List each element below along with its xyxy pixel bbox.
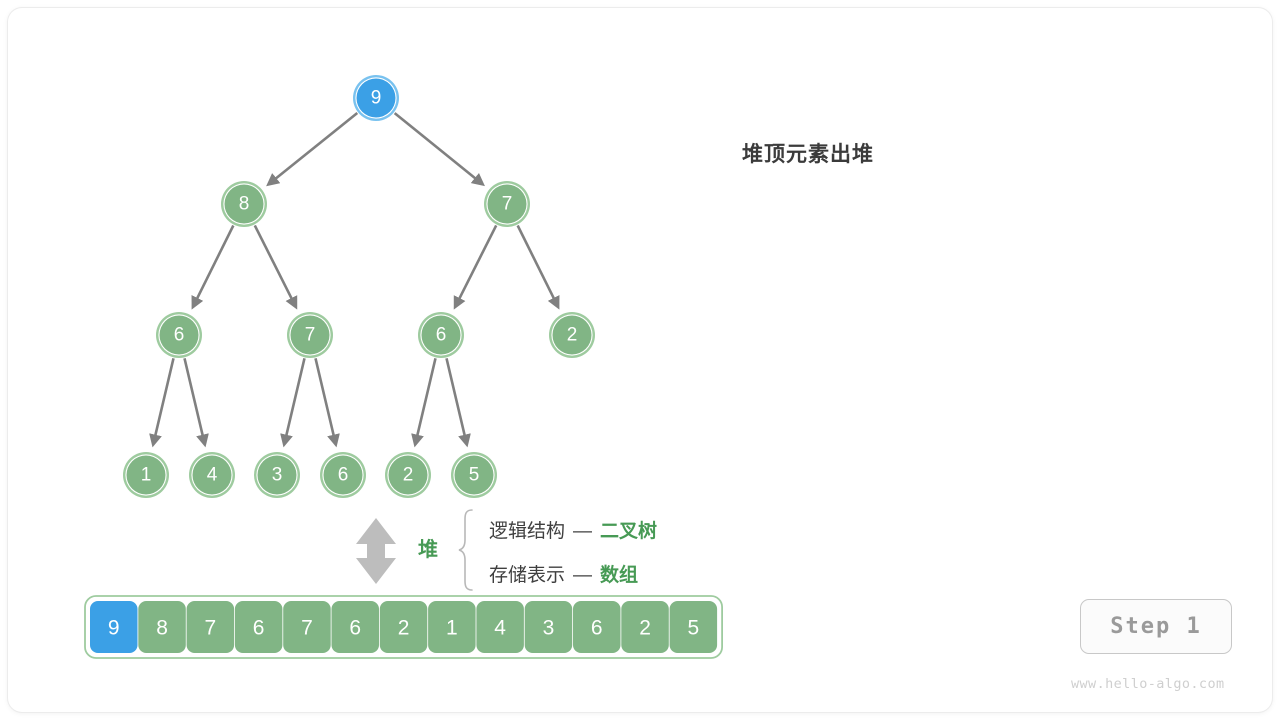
diagram-canvas: 9876762143625 9876762143625 堆顶元素出堆 堆 逻辑结… bbox=[0, 0, 1280, 720]
tree-node-value: 3 bbox=[272, 465, 283, 486]
array-cell-value: 6 bbox=[253, 617, 265, 640]
legend-label-storage: 存储表示 bbox=[489, 565, 565, 586]
tree-edge bbox=[518, 225, 558, 306]
array-cell[interactable]: 4 bbox=[476, 601, 524, 653]
tree-edge bbox=[255, 225, 296, 306]
tree-node[interactable]: 6 bbox=[156, 312, 202, 358]
tree-node-value: 6 bbox=[174, 325, 185, 346]
tree-node[interactable]: 7 bbox=[287, 312, 333, 358]
array-cell[interactable]: 6 bbox=[332, 601, 380, 653]
legend-dash-logical: — bbox=[573, 521, 592, 542]
legend-value-logical: 二叉树 bbox=[600, 521, 657, 542]
array-cell-value: 2 bbox=[398, 617, 410, 640]
array-cell[interactable]: 7 bbox=[187, 601, 235, 653]
array-cell-value: 4 bbox=[494, 617, 506, 640]
legend-value-storage: 数组 bbox=[600, 565, 638, 586]
array-cell-value: 9 bbox=[108, 617, 120, 640]
step-badge-label: Step 1 bbox=[1110, 614, 1201, 639]
legend-label-logical: 逻辑结构 bbox=[489, 521, 565, 542]
tree-edge bbox=[415, 358, 435, 443]
array-cell[interactable]: 8 bbox=[138, 601, 186, 653]
array-cell-value: 6 bbox=[591, 617, 603, 640]
tree-edge bbox=[193, 225, 233, 306]
tree-node-value: 2 bbox=[567, 325, 578, 346]
tree-node-value: 7 bbox=[305, 325, 316, 346]
array-cell-value: 6 bbox=[349, 617, 361, 640]
array-cell[interactable]: 6 bbox=[235, 601, 283, 653]
tree-node[interactable]: 2 bbox=[385, 452, 431, 498]
array-cell[interactable]: 5 bbox=[670, 601, 718, 653]
tree-edge bbox=[395, 113, 482, 184]
array-cell-value: 3 bbox=[543, 617, 555, 640]
page-title: 堆顶元素出堆 bbox=[742, 138, 874, 168]
tree-edge bbox=[269, 113, 357, 184]
array-cell-value: 5 bbox=[688, 617, 700, 640]
tree-node[interactable]: 2 bbox=[549, 312, 595, 358]
tree-edges bbox=[153, 113, 557, 444]
tree-edge bbox=[316, 358, 336, 443]
tree-edge bbox=[284, 358, 304, 443]
step-badge: Step 1 bbox=[1080, 599, 1232, 654]
array-cell[interactable]: 1 bbox=[428, 601, 476, 653]
array-cell[interactable]: 6 bbox=[573, 601, 621, 653]
array-cell-value: 8 bbox=[156, 617, 168, 640]
tree-node[interactable]: 5 bbox=[451, 452, 497, 498]
array-cell-value: 1 bbox=[446, 617, 458, 640]
tree-node-value: 6 bbox=[338, 465, 349, 486]
tree-edge bbox=[185, 358, 205, 443]
legend-graphics bbox=[356, 510, 472, 590]
legend-row-storage: 存储表示—数组 bbox=[489, 560, 638, 587]
array-cell-value: 7 bbox=[301, 617, 313, 640]
array-cell[interactable]: 2 bbox=[621, 601, 669, 653]
tree-node[interactable]: 6 bbox=[320, 452, 366, 498]
legend-heap-label: 堆 bbox=[418, 533, 438, 562]
tree-node-value: 8 bbox=[239, 194, 250, 215]
double-arrow-icon bbox=[356, 518, 396, 584]
tree-node-value: 4 bbox=[207, 465, 218, 486]
tree-node-value: 6 bbox=[436, 325, 447, 346]
tree-node[interactable]: 8 bbox=[221, 181, 267, 227]
tree-node-value: 5 bbox=[469, 465, 480, 486]
tree-node[interactable]: 4 bbox=[189, 452, 235, 498]
tree-edge bbox=[447, 358, 467, 443]
tree-node-value: 1 bbox=[141, 465, 152, 486]
tree-node[interactable]: 6 bbox=[418, 312, 464, 358]
tree-node[interactable]: 3 bbox=[254, 452, 300, 498]
tree-node[interactable]: 9 bbox=[353, 75, 399, 121]
tree-edge bbox=[153, 358, 173, 443]
array-cell[interactable]: 7 bbox=[283, 601, 331, 653]
tree-edge bbox=[455, 225, 496, 306]
array-cell-value: 2 bbox=[639, 617, 651, 640]
array-graphics: 9876762143625 bbox=[85, 596, 722, 658]
tree-node-value: 9 bbox=[371, 88, 382, 109]
footer-url: www.hello-algo.com bbox=[1071, 676, 1225, 692]
tree-node-value: 7 bbox=[502, 194, 513, 215]
curly-brace-icon bbox=[459, 510, 472, 590]
array-cell[interactable]: 3 bbox=[525, 601, 573, 653]
tree-node[interactable]: 7 bbox=[484, 181, 530, 227]
tree-node[interactable]: 1 bbox=[123, 452, 169, 498]
array-cell-value: 7 bbox=[205, 617, 217, 640]
tree-node-value: 2 bbox=[403, 465, 414, 486]
array-cell[interactable]: 9 bbox=[90, 601, 138, 653]
tree-nodes: 9876762143625 bbox=[123, 75, 595, 498]
legend-row-logical: 逻辑结构—二叉树 bbox=[489, 516, 657, 543]
legend-dash-storage: — bbox=[573, 565, 592, 586]
array-cell[interactable]: 2 bbox=[380, 601, 428, 653]
